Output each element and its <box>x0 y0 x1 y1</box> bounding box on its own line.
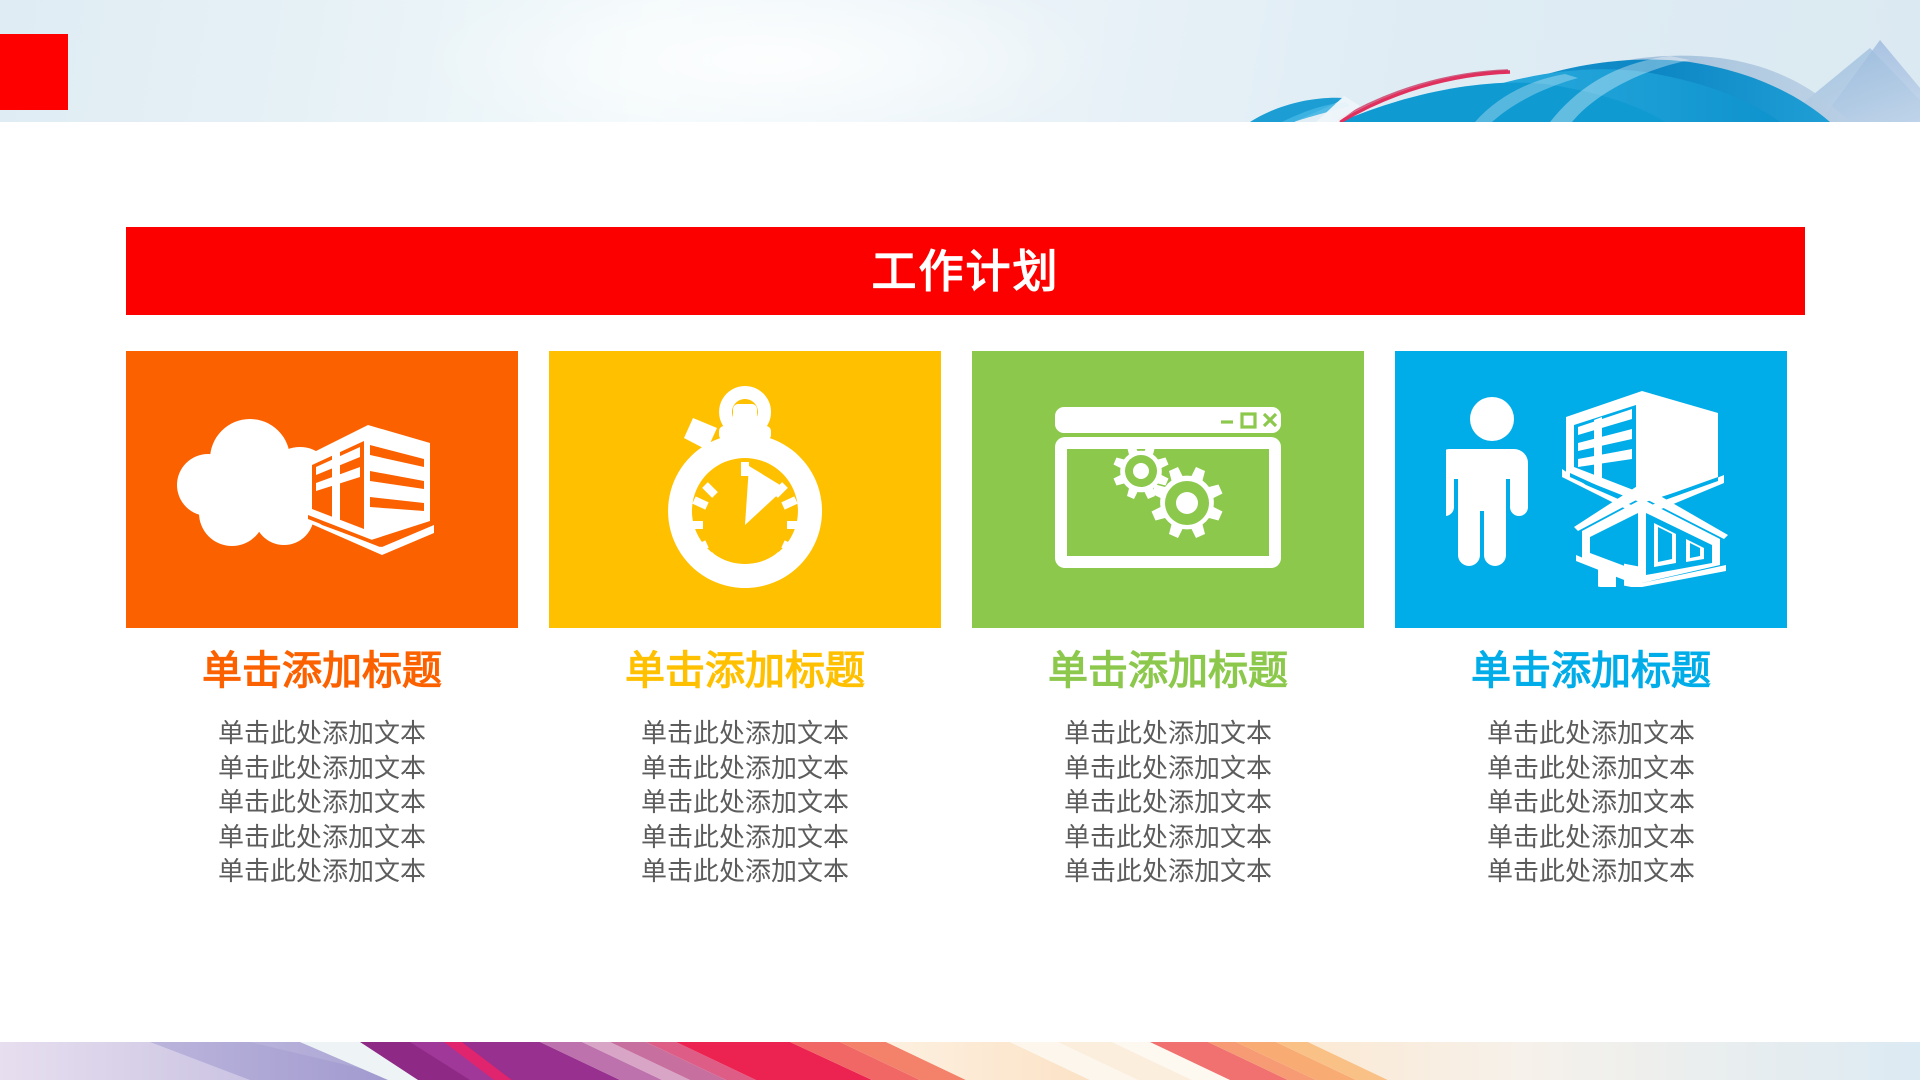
body-line: 单击此处添加文本 <box>549 854 941 889</box>
body-line: 单击此处添加文本 <box>126 751 518 786</box>
body-line: 单击此处添加文本 <box>972 716 1364 751</box>
title-banner: 工作计划 <box>126 227 1805 315</box>
content-columns: 单击添加标题 单击此处添加文本 单击此处添加文本 单击此处添加文本 单击此处添加… <box>126 351 1805 971</box>
cloud-building-icon <box>172 397 472 582</box>
content-column-1: 单击添加标题 单击此处添加文本 单击此处添加文本 单击此处添加文本 单击此处添加… <box>126 351 518 971</box>
footer-stripes-graphic <box>0 1032 1920 1080</box>
browser-gears-icon <box>1053 405 1283 575</box>
column-heading-4: 单击添加标题 <box>1395 650 1787 692</box>
icon-card-2[interactable] <box>549 351 941 628</box>
body-line: 单击此处添加文本 <box>549 820 941 855</box>
icon-card-4[interactable] <box>1395 351 1787 628</box>
body-line: 单击此处添加文本 <box>126 716 518 751</box>
body-line: 单击此处添加文本 <box>549 716 941 751</box>
body-line: 单击此处添加文本 <box>972 820 1364 855</box>
icon-card-1[interactable] <box>126 351 518 628</box>
header-sheen <box>420 0 1120 122</box>
body-line: 单击此处添加文本 <box>549 785 941 820</box>
body-line: 单击此处添加文本 <box>1395 785 1787 820</box>
body-line: 单击此处添加文本 <box>126 785 518 820</box>
column-heading-3: 单击添加标题 <box>972 650 1364 692</box>
body-line: 单击此处添加文本 <box>972 751 1364 786</box>
page-title: 工作计划 <box>871 249 1059 294</box>
body-line: 单击此处添加文本 <box>1395 854 1787 889</box>
body-line: 单击此处添加文本 <box>1395 751 1787 786</box>
icon-card-3[interactable] <box>972 351 1364 628</box>
column-heading-1: 单击添加标题 <box>126 650 518 692</box>
body-line: 单击此处添加文本 <box>126 820 518 855</box>
body-line: 单击此处添加文本 <box>126 854 518 889</box>
column-body-4: 单击此处添加文本 单击此处添加文本 单击此处添加文本 单击此处添加文本 单击此处… <box>1395 716 1787 889</box>
content-column-2: 单击添加标题 单击此处添加文本 单击此处添加文本 单击此处添加文本 单击此处添加… <box>549 351 941 971</box>
red-corner-tab <box>0 34 68 110</box>
body-line: 单击此处添加文本 <box>549 751 941 786</box>
slide-canvas: 工作计划 <box>0 0 1920 1080</box>
body-line: 单击此处添加文本 <box>972 854 1364 889</box>
header-band <box>0 0 1920 122</box>
person-buildings-icon <box>1446 387 1736 592</box>
content-column-4: 单击添加标题 单击此处添加文本 单击此处添加文本 单击此处添加文本 单击此处添加… <box>1395 351 1787 971</box>
content-column-3: 单击添加标题 单击此处添加文本 单击此处添加文本 单击此处添加文本 单击此处添加… <box>972 351 1364 971</box>
column-heading-2: 单击添加标题 <box>549 650 941 692</box>
column-body-2: 单击此处添加文本 单击此处添加文本 单击此处添加文本 单击此处添加文本 单击此处… <box>549 716 941 889</box>
column-body-1: 单击此处添加文本 单击此处添加文本 单击此处添加文本 单击此处添加文本 单击此处… <box>126 716 518 889</box>
body-line: 单击此处添加文本 <box>972 785 1364 820</box>
column-body-3: 单击此处添加文本 单击此处添加文本 单击此处添加文本 单击此处添加文本 单击此处… <box>972 716 1364 889</box>
body-line: 单击此处添加文本 <box>1395 820 1787 855</box>
stopwatch-icon <box>645 382 845 597</box>
body-line: 单击此处添加文本 <box>1395 716 1787 751</box>
header-wave-graphic <box>1220 0 1920 122</box>
